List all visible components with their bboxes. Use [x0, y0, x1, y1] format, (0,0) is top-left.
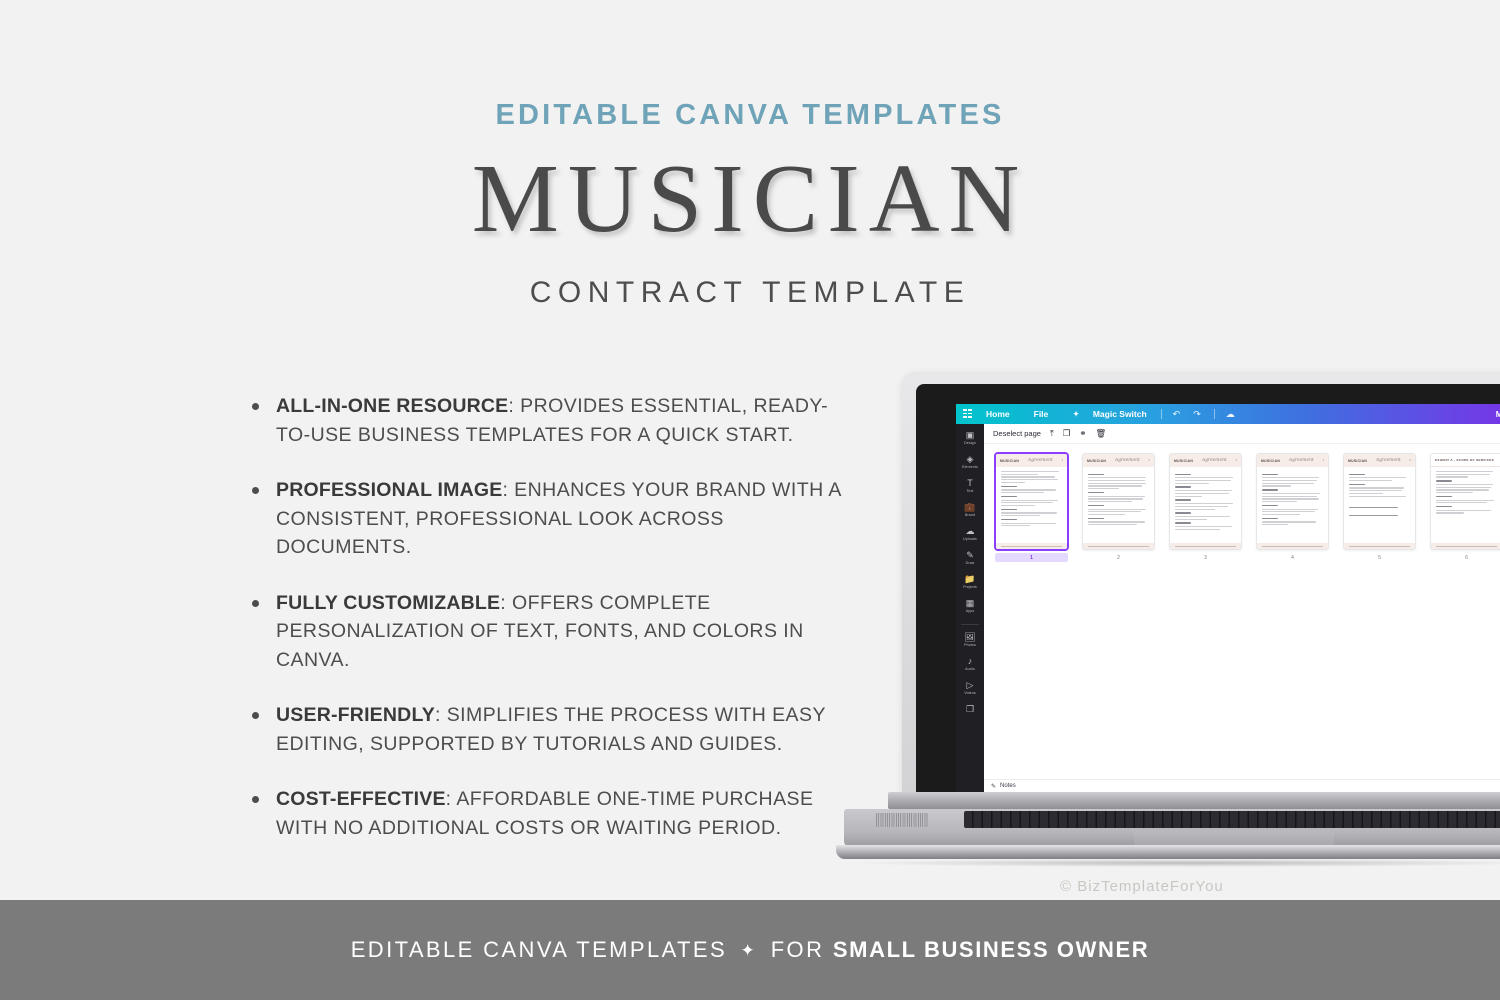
benefit-text: PROFESSIONAL IMAGE: ENHANCES YOUR BRAND …: [276, 476, 862, 562]
pen-icon: ✎: [956, 550, 984, 560]
design-panel-icon: ▣: [956, 430, 984, 440]
sidebar-item-copy-pages[interactable]: ❐: [956, 704, 984, 715]
signature-script: Agreement: [1028, 458, 1053, 463]
benefit-text: FULLY CUSTOMIZABLE: OFFERS COMPLETE PERS…: [276, 589, 862, 675]
laptop-speaker-grille: [876, 813, 928, 827]
page-thumbnail[interactable]: MUSICIAN Agreement 1: [995, 453, 1068, 550]
sidebar-item-uploads[interactable]: ☁ Uploads: [956, 526, 984, 541]
photo-icon: 🖼: [956, 632, 984, 642]
nav-magic-switch[interactable]: Magic Switch: [1093, 409, 1147, 419]
sidebar-item-videos[interactable]: ▷ Videos: [956, 680, 984, 695]
page-number-label[interactable]: 3: [1169, 553, 1242, 562]
eyebrow-heading: EDITABLE CANVA TEMPLATES: [0, 99, 1500, 132]
redo-arrow-icon[interactable]: ↷: [1193, 409, 1201, 420]
lock-page-icon[interactable]: ⚭: [1079, 428, 1086, 439]
page-thumbnail-wrap[interactable]: MUSICIAN Agreement 4: [1256, 453, 1329, 779]
sidebar-item-label: Uploads: [956, 537, 984, 541]
list-item: PROFESSIONAL IMAGE: ENHANCES YOUR BRAND …: [252, 476, 862, 562]
footer-banner: EDITABLE CANVA TEMPLATES ✦ FOR SMALL BUS…: [0, 900, 1500, 1000]
sidebar-item-brand[interactable]: 💼 Brand: [956, 502, 984, 517]
toolbar-divider: [1161, 409, 1162, 419]
page-footer: [996, 543, 1067, 549]
list-item: FULLY CUSTOMIZABLE: OFFERS COMPLETE PERS…: [252, 589, 862, 675]
page-header: MUSICIAN Agreement 5: [1344, 454, 1415, 467]
bullet-dot-icon: [252, 796, 259, 803]
nav-home[interactable]: Home: [986, 409, 1010, 419]
page-footer: [1083, 543, 1154, 549]
page-number-label[interactable]: 4: [1256, 553, 1329, 562]
page-body: [1344, 467, 1415, 521]
add-page-icon[interactable]: ⤒: [1050, 428, 1054, 439]
page-thumbnail-wrap[interactable]: EXHIBIT A - SCOPE OF SERVICES: [1430, 453, 1500, 779]
page-header: MUSICIAN Agreement 1: [996, 454, 1067, 467]
sidebar-item-label: Brand: [956, 513, 984, 517]
sidebar-item-label: Photos: [956, 643, 984, 647]
sidebar-item-draw[interactable]: ✎ Draw: [956, 550, 984, 565]
page-thumbnail-wrap[interactable]: MUSICIAN Agreement 1: [995, 453, 1068, 779]
page-thumbnail-wrap[interactable]: MUSICIAN Agreement 5: [1343, 453, 1416, 779]
page-header-title: MUSICIAN: [1174, 459, 1193, 463]
sidebar-item-label: Videos: [956, 691, 984, 695]
benefit-text: ALL-IN-ONE RESOURCE: PROVIDES ESSENTIAL,…: [276, 392, 862, 449]
bullet-dot-icon: [252, 600, 259, 607]
page-thumbnail[interactable]: MUSICIAN Agreement 3: [1169, 453, 1242, 550]
page-footer: [1431, 543, 1500, 549]
benefit-lead: PROFESSIONAL IMAGE: [276, 479, 502, 501]
signature-script: Agreement: [1115, 458, 1140, 463]
page-number-label[interactable]: 1: [995, 553, 1068, 562]
sidebar-divider: [961, 624, 979, 625]
list-item: ALL-IN-ONE RESOURCE: PROVIDES ESSENTIAL,…: [252, 392, 862, 449]
canva-topbar: Home File ✦ Magic Switch ↶ ↷ ☁ Musician …: [956, 404, 1500, 424]
sidebar-item-label: Audio: [956, 667, 984, 671]
sidebar-item-label: Projects: [956, 585, 984, 589]
shapes-icon: ◈: [956, 454, 984, 464]
page-toolbar: Deselect page ⤒ ❐ ⚭ 🗑: [984, 424, 1500, 444]
benefit-text: USER-FRIENDLY: SIMPLIFIES THE PROCESS WI…: [276, 701, 862, 758]
bullet-dot-icon: [252, 403, 259, 410]
nav-file[interactable]: File: [1034, 409, 1049, 419]
text-t-icon: T: [956, 478, 984, 488]
signature-script: Agreement: [1376, 458, 1401, 463]
laptop-hinge: [888, 792, 1500, 809]
apps-grid-icon: ▦: [956, 598, 984, 608]
benefits-list: ALL-IN-ONE RESOURCE: PROVIDES ESSENTIAL,…: [252, 392, 862, 869]
page-header-number: 4: [1323, 459, 1324, 462]
page-header: EXHIBIT A - SCOPE OF SERVICES: [1431, 454, 1500, 467]
briefcase-icon: 💼: [956, 502, 984, 512]
video-icon: ▷: [956, 680, 984, 690]
page-title: MUSICIAN: [0, 148, 1500, 251]
watermark-text: BizTemplateForYou: [1077, 878, 1224, 895]
signature-script: Agreement: [1289, 458, 1314, 463]
document-title[interactable]: Musician C: [1496, 410, 1500, 419]
page-header: MUSICIAN Agreement 4: [1257, 454, 1328, 467]
sidebar-item-label: Design: [956, 441, 984, 445]
page-body: [1083, 467, 1154, 531]
laptop-mockup: Home File ✦ Magic Switch ↶ ↷ ☁ Musician …: [824, 372, 1500, 872]
benefit-text: COST-EFFECTIVE: AFFORDABLE ONE-TIME PURC…: [276, 785, 862, 842]
page-header-number: 5: [1410, 459, 1411, 462]
page-body: [1170, 467, 1241, 536]
page-header-title: MUSICIAN: [1261, 459, 1280, 463]
signature-script: Agreement: [1202, 458, 1227, 463]
laptop-bezel: Home File ✦ Magic Switch ↶ ↷ ☁ Musician …: [916, 384, 1500, 792]
notes-icon: ✎: [991, 783, 996, 790]
laptop-lid: Home File ✦ Magic Switch ↶ ↷ ☁ Musician …: [902, 372, 1500, 792]
page-thumbnail[interactable]: MUSICIAN Agreement 5: [1343, 453, 1416, 550]
benefit-lead: ALL-IN-ONE RESOURCE: [276, 395, 508, 417]
page-header: MUSICIAN Agreement 2: [1083, 454, 1154, 467]
diamond-icon: ✦: [741, 941, 758, 960]
folder-icon: 📁: [956, 574, 984, 584]
sidebar-item-label: Elements: [956, 465, 984, 469]
bullet-dot-icon: [252, 487, 259, 494]
delete-page-icon[interactable]: 🗑: [1095, 428, 1106, 439]
page-thumbnail[interactable]: MUSICIAN Agreement 2: [1082, 453, 1155, 550]
sidebar-item-projects[interactable]: 📁 Projects: [956, 574, 984, 589]
grid-menu-icon[interactable]: [963, 409, 973, 419]
page-header: MUSICIAN Agreement 3: [1170, 454, 1241, 467]
page-number-label[interactable]: 5: [1343, 553, 1416, 562]
sidebar-item-audio[interactable]: ♪ Audio: [956, 656, 984, 671]
page-number-label[interactable]: 6: [1430, 553, 1500, 562]
deselect-page-button[interactable]: Deselect page: [993, 429, 1041, 438]
sidebar-item-photos[interactable]: 🖼 Photos: [956, 632, 984, 647]
cloud-sync-icon[interactable]: ☁: [1226, 409, 1235, 420]
list-item: COST-EFFECTIVE: AFFORDABLE ONE-TIME PURC…: [252, 785, 862, 842]
page-header-number: 1: [1062, 459, 1063, 462]
footer-lead: EDITABLE CANVA TEMPLATES: [351, 937, 727, 962]
benefit-lead: USER-FRIENDLY: [276, 704, 435, 726]
page-header-number: 3: [1236, 459, 1237, 462]
sidebar-item-text[interactable]: T Text: [956, 478, 984, 493]
sidebar-item-apps[interactable]: ▦ Apps: [956, 598, 984, 613]
canva-app-window: Home File ✦ Magic Switch ↶ ↷ ☁ Musician …: [956, 404, 1500, 792]
page-footer: [1344, 543, 1415, 549]
music-note-icon: ♪: [956, 656, 984, 666]
bullet-dot-icon: [252, 712, 259, 719]
page-subtitle: CONTRACT TEMPLATE: [0, 276, 1500, 310]
page-thumbnail[interactable]: MUSICIAN Agreement 4: [1256, 453, 1329, 550]
canva-body: ▣ Design ◈ Elements T Text 💼: [956, 424, 1500, 792]
page-header-number: 2: [1149, 459, 1150, 462]
page-header-title: MUSICIAN: [1348, 459, 1367, 463]
sidebar-item-design[interactable]: ▣ Design: [956, 430, 984, 445]
cloud-upload-icon: ☁: [956, 526, 984, 536]
footer-text: EDITABLE CANVA TEMPLATES ✦ FOR SMALL BUS…: [351, 937, 1150, 963]
laptop-keyboard: [964, 811, 1500, 828]
laptop-trackpad: [1134, 831, 1334, 845]
page-body: [1431, 467, 1500, 519]
laptop-front-edge: [836, 845, 1500, 859]
notes-label[interactable]: Notes: [1000, 783, 1016, 789]
footer-strong: SMALL BUSINESS OWNER: [833, 937, 1149, 962]
benefit-lead: COST-EFFECTIVE: [276, 788, 446, 810]
page-header-title: MUSICIAN: [1087, 459, 1106, 463]
sidebar-item-label: Text: [956, 489, 984, 493]
canva-sidebar: ▣ Design ◈ Elements T Text 💼: [956, 424, 984, 792]
page-body: [996, 467, 1067, 532]
copyright-icon: ©: [1060, 878, 1072, 895]
sparkle-icon: ✦: [1072, 409, 1080, 420]
toolbar-divider: [1214, 409, 1215, 419]
page-thumbnail-wrap[interactable]: MUSICIAN Agreement 2: [1082, 453, 1155, 779]
watermark: © BizTemplateForYou: [1060, 878, 1224, 895]
sidebar-item-elements[interactable]: ◈ Elements: [956, 454, 984, 469]
page-header-title: MUSICIAN: [1000, 459, 1019, 463]
sidebar-item-label: Apps: [956, 609, 984, 613]
duplicate-page-icon[interactable]: ❐: [1063, 428, 1071, 439]
undo-arrow-icon[interactable]: ↶: [1173, 409, 1181, 420]
page-footer: [1170, 543, 1241, 549]
page-footer: [1257, 543, 1328, 549]
page-thumbnail[interactable]: EXHIBIT A - SCOPE OF SERVICES: [1430, 453, 1500, 550]
page-body: [1257, 467, 1328, 531]
copy-pages-icon: ❐: [956, 704, 984, 714]
footer-mid: FOR: [771, 937, 825, 962]
pages-strip[interactable]: MUSICIAN Agreement 1: [984, 444, 1500, 779]
notes-bar[interactable]: ✎ Notes: [984, 779, 1500, 792]
laptop-shadow: [854, 859, 1500, 867]
canva-editor-area: Deselect page ⤒ ❐ ⚭ 🗑 MUSICIAN: [984, 424, 1500, 792]
benefit-lead: FULLY CUSTOMIZABLE: [276, 592, 500, 614]
page-header-title: EXHIBIT A - SCOPE OF SERVICES: [1435, 458, 1494, 462]
sidebar-item-label: Draw: [956, 561, 984, 565]
page-number-label[interactable]: 2: [1082, 553, 1155, 562]
page-thumbnail-wrap[interactable]: MUSICIAN Agreement 3: [1169, 453, 1242, 779]
list-item: USER-FRIENDLY: SIMPLIFIES THE PROCESS WI…: [252, 701, 862, 758]
